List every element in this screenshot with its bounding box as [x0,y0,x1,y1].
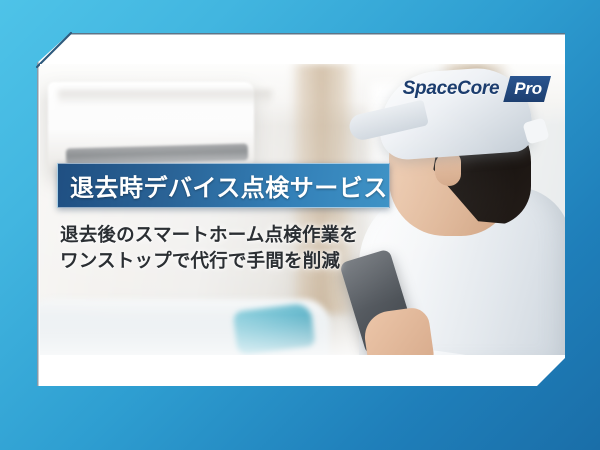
hero-photo: SpaceCore Pro [40,64,565,355]
promo-banner: SpaceCore Pro 退去時デバイス点検サービス 退去後のスマートホーム点… [0,0,600,450]
brand-logo: SpaceCore Pro [403,76,551,102]
subtitle-line-2: ワンストップで代行で手間を削減 [60,248,358,274]
headline-banner: 退去時デバイス点検サービス [57,163,390,208]
photo-haze [40,64,565,355]
subtitle-line-1: 退去後のスマートホーム点検作業を [60,222,358,248]
subtitle-block: 退去後のスマートホーム点検作業を ワンストップで代行で手間を削減 [60,222,358,275]
headline-title: 退去時デバイス点検サービス [58,168,388,203]
brand-logo-pro-badge: Pro [503,76,551,102]
brand-logo-word: SpaceCore [403,78,500,100]
